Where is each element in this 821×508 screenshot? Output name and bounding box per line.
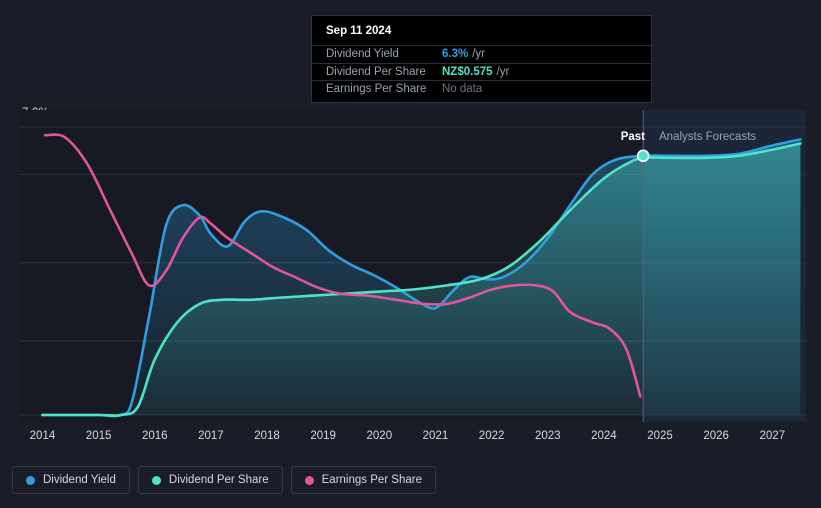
- x-axis-tick-2025: 2025: [647, 430, 673, 442]
- x-axis-tick-2014: 2014: [30, 430, 56, 442]
- legend-item-dividend-yield[interactable]: Dividend Yield: [12, 466, 130, 494]
- x-axis-tick-2027: 2027: [760, 430, 786, 442]
- tooltip-row: Earnings Per ShareNo data: [312, 80, 651, 98]
- legend-item-dividend-per-share[interactable]: Dividend Per Share: [138, 466, 283, 494]
- tooltip-row: Dividend Yield6.3%/yr: [312, 45, 651, 63]
- x-axis-tick-2024: 2024: [591, 430, 617, 442]
- analysts-forecasts-label: Analysts Forecasts: [659, 131, 756, 143]
- x-axis-tick-2022: 2022: [479, 430, 505, 442]
- legend-item-label: Earnings Per Share: [322, 474, 422, 486]
- legend-item-earnings-per-share[interactable]: Earnings Per Share: [291, 466, 436, 494]
- legend-color-dot-icon: [152, 476, 161, 485]
- tooltip-row-value: No data: [442, 83, 482, 95]
- past-label: Past: [621, 131, 645, 143]
- chart-legend: Dividend YieldDividend Per ShareEarnings…: [12, 466, 436, 494]
- legend-item-label: Dividend Per Share: [169, 474, 269, 486]
- chart-tooltip: Sep 11 2024 Dividend Yield6.3%/yrDividen…: [311, 15, 652, 103]
- legend-color-dot-icon: [305, 476, 314, 485]
- x-axis: 2014201520162017201820192020202120222023…: [20, 424, 806, 448]
- tooltip-row-unit: /yr: [497, 66, 510, 78]
- x-axis-tick-2023: 2023: [535, 430, 561, 442]
- tooltip-date: Sep 11 2024: [312, 24, 651, 45]
- chart-screenshot: 7.0% 0% Past Analysts Forecasts 20142015…: [0, 0, 821, 508]
- x-axis-tick-2016: 2016: [142, 430, 168, 442]
- x-axis-tick-2018: 2018: [254, 430, 280, 442]
- x-axis-tick-2019: 2019: [310, 430, 336, 442]
- x-axis-tick-2015: 2015: [86, 430, 112, 442]
- x-axis-tick-2021: 2021: [423, 430, 449, 442]
- tooltip-row: Dividend Per ShareNZ$0.575/yr: [312, 63, 651, 81]
- tooltip-marker: [638, 150, 649, 161]
- x-axis-tick-2026: 2026: [703, 430, 729, 442]
- tooltip-row-value: 6.3%: [442, 48, 468, 60]
- x-axis-tick-2020: 2020: [367, 430, 393, 442]
- chart-canvas: [20, 110, 806, 422]
- legend-item-label: Dividend Yield: [43, 474, 116, 486]
- legend-color-dot-icon: [26, 476, 35, 485]
- tooltip-row-label: Dividend Yield: [326, 48, 442, 60]
- tooltip-row-label: Dividend Per Share: [326, 66, 442, 78]
- tooltip-row-value: NZ$0.575: [442, 66, 493, 78]
- tooltip-row-label: Earnings Per Share: [326, 83, 442, 95]
- chart-plot-area[interactable]: [20, 110, 806, 422]
- x-axis-tick-2017: 2017: [198, 430, 224, 442]
- tooltip-row-unit: /yr: [472, 48, 485, 60]
